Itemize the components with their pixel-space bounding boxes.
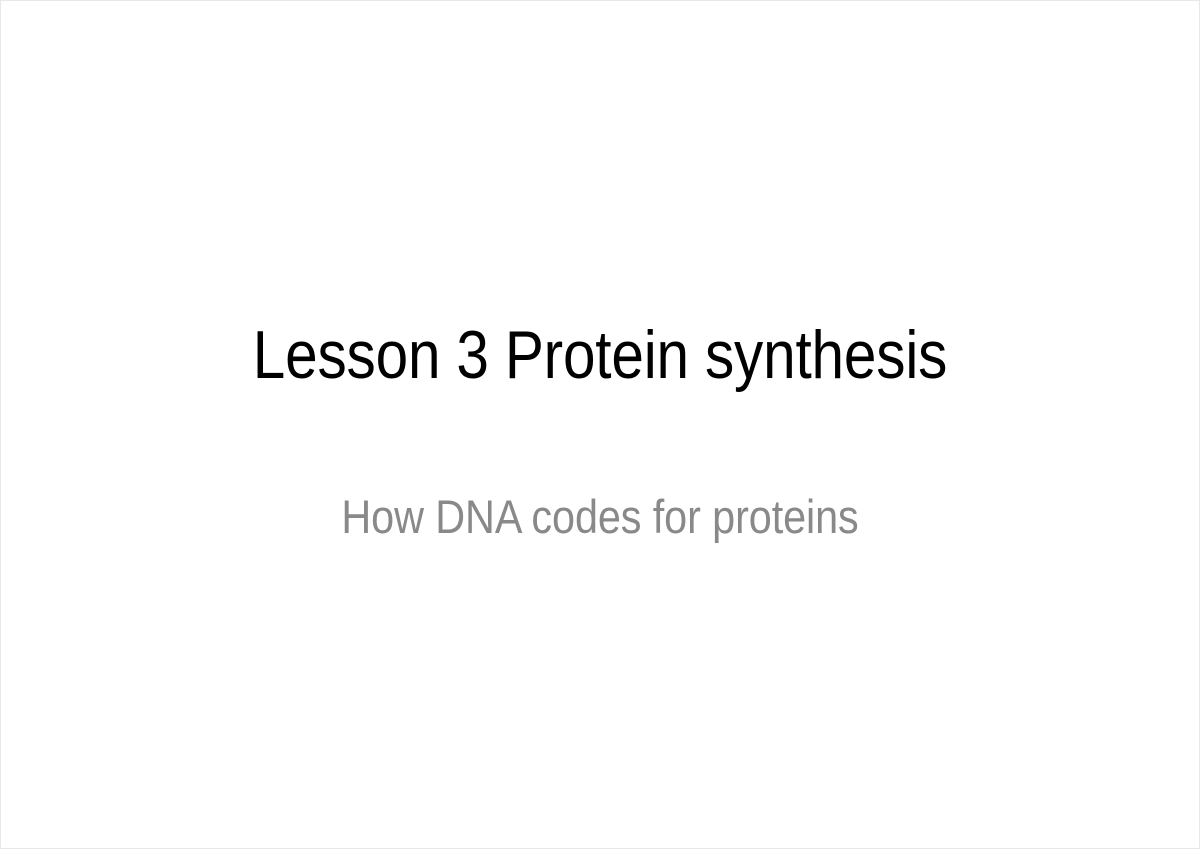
slide-title: Lesson 3 Protein synthesis xyxy=(162,319,1037,391)
subtitle-placeholder: How DNA codes for proteins xyxy=(91,491,1109,543)
slide-content-area: Lesson 3 Protein synthesis How DNA codes… xyxy=(1,1,1199,848)
title-placeholder: Lesson 3 Protein synthesis xyxy=(91,319,1109,391)
slide-subtitle: How DNA codes for proteins xyxy=(152,491,1048,543)
slide-page: Lesson 3 Protein synthesis How DNA codes… xyxy=(0,0,1200,849)
